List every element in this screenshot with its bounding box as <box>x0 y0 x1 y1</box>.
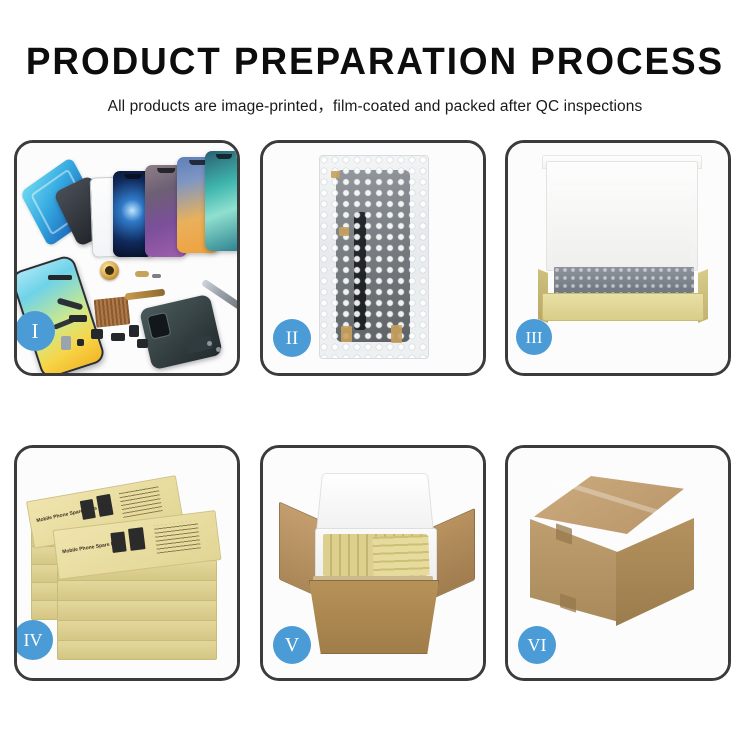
process-step-panel-3: III <box>505 140 731 376</box>
component-chip-icon <box>91 329 103 339</box>
notch-icon <box>125 174 142 179</box>
foam-liner-icon <box>552 187 690 271</box>
box-stack-icon: Mobile Phone Spare Parts Mobile Phone Sp… <box>29 470 229 662</box>
wrapped-parts-row-icon <box>554 267 694 295</box>
header: PRODUCT PREPARATION PROCESS All products… <box>0 0 750 116</box>
step-badge-6: VI <box>518 626 556 664</box>
bubble-wrap-bag-icon <box>319 155 429 359</box>
component-chip-icon <box>111 333 125 341</box>
step-badge-3: III <box>516 319 552 355</box>
logic-board-icon <box>94 296 131 327</box>
carton-front-panel-icon <box>309 580 439 654</box>
box-label-phone-image <box>128 527 146 551</box>
box-label-phone-image <box>110 531 126 553</box>
notch-icon <box>157 168 175 173</box>
page-title: PRODUCT PREPARATION PROCESS <box>11 43 739 81</box>
packed-boxes-icon <box>372 535 429 577</box>
flex-cable-icon <box>125 289 166 301</box>
tray-front-panel-icon <box>542 293 704 321</box>
bubble-texture-icon <box>320 156 428 358</box>
stacked-box-icon <box>57 600 217 622</box>
component-chip-icon <box>69 315 87 322</box>
process-step-panel-6: VI <box>505 445 731 681</box>
tape-icon <box>391 325 402 343</box>
box-label-spec-lines <box>154 520 201 553</box>
process-step-panel-4: Mobile Phone Spare Parts Mobile Phone Sp… <box>14 445 240 681</box>
tape-icon <box>331 171 340 178</box>
component-chip-icon <box>77 339 84 346</box>
box-label-phone-image <box>96 494 113 517</box>
box-label-spec-lines <box>119 485 163 518</box>
stacked-box-icon <box>57 620 217 642</box>
component-chip-icon <box>129 325 139 337</box>
camera-ring-icon <box>100 261 119 280</box>
tape-icon <box>339 227 349 236</box>
product-preparation-infographic: PRODUCT PREPARATION PROCESS All products… <box>0 0 750 750</box>
step-badge-5: V <box>273 626 311 664</box>
tape-icon <box>341 326 352 342</box>
component-chip-icon <box>152 274 161 278</box>
notch-icon <box>216 154 232 159</box>
component-chip-icon <box>137 339 148 348</box>
carton-right-face-icon <box>616 518 694 626</box>
component-chip-icon <box>48 275 72 280</box>
box-label-phone-image <box>80 499 96 520</box>
process-step-panel-1: I <box>14 140 240 376</box>
step-badge-2: II <box>273 319 311 357</box>
stacked-box-icon <box>57 580 217 602</box>
step-badge-4: IV <box>14 620 53 660</box>
component-chip-icon <box>135 271 149 277</box>
stacked-box-icon <box>57 640 217 660</box>
component-chip-icon <box>61 336 71 350</box>
page-subtitle: All products are image-printed，film-coat… <box>0 94 750 116</box>
step-badge-1: I <box>15 311 55 351</box>
phone-back-housing-icon <box>139 294 223 371</box>
process-step-panel-5: V <box>260 445 486 681</box>
process-step-panel-2: II <box>260 140 486 376</box>
phone-screen-teal-icon <box>205 151 240 251</box>
screws-icon <box>207 341 225 353</box>
process-step-grid: I II <box>14 140 736 688</box>
